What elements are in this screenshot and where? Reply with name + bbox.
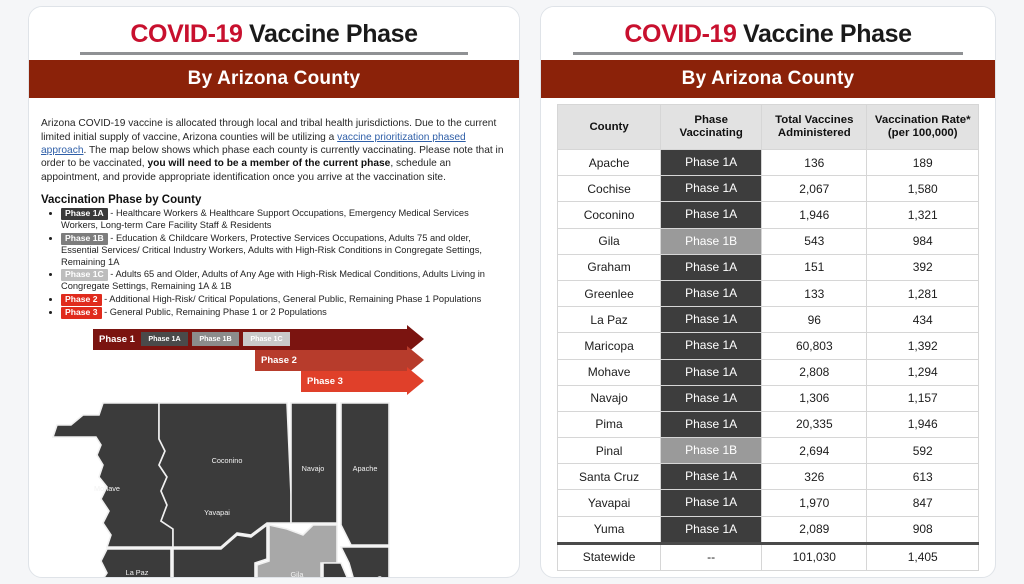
phase-description: - Healthcare Workers & Healthcare Suppor…	[61, 208, 469, 230]
table-head: CountyPhaseVaccinatingTotal VaccinesAdmi…	[558, 105, 979, 150]
phase-chip: Phase 1B	[61, 233, 108, 245]
cell-vaccination-rate: 592	[867, 438, 979, 464]
phase-description: - Adults 65 and Older, Adults of Any Age…	[61, 269, 485, 291]
cell-total-vaccines: 543	[762, 228, 867, 254]
cell-phase: Phase 1A	[661, 385, 762, 411]
cell-vaccination-rate: 1,392	[867, 333, 979, 359]
cell-county: Yavapai	[558, 490, 661, 516]
map-label-apache: Apache	[353, 464, 378, 473]
table-row[interactable]: CochisePhase 1A2,0671,580	[558, 176, 979, 202]
cell-vaccination-rate: 1,405	[867, 543, 979, 570]
map-county-apache	[341, 403, 389, 545]
table-row[interactable]: MaricopaPhase 1A60,8031,392	[558, 333, 979, 359]
cell-county: Navajo	[558, 385, 661, 411]
intro-bold: you will need to be a member of the curr…	[147, 158, 390, 169]
arizona-county-map: Mohave Coconino Navajo Apache Yavapai La…	[41, 395, 511, 578]
arrow-subchip-1a: Phase 1A	[141, 332, 188, 346]
arrow-phase-1: Phase 1 Phase 1A Phase 1B Phase 1C	[93, 329, 407, 350]
cell-county: Coconino	[558, 202, 661, 228]
cell-vaccination-rate: 1,580	[867, 176, 979, 202]
phase-badge: Phase 1A	[661, 517, 761, 542]
table-header-cell[interactable]: County	[558, 105, 661, 150]
table-header-cell[interactable]: Total VaccinesAdministered	[762, 105, 867, 150]
cell-total-vaccines: 1,946	[762, 202, 867, 228]
phase-chip: Phase 1C	[61, 269, 108, 281]
phase-badge: Phase 1A	[661, 281, 761, 306]
cell-county: Pima	[558, 411, 661, 437]
map-county-mohave	[53, 403, 173, 547]
cell-vaccination-rate: 1,157	[867, 385, 979, 411]
phase-badge: Phase 1A	[661, 386, 761, 411]
right-subtitle-bar: By Arizona County	[541, 60, 995, 98]
cell-phase: --	[661, 543, 762, 570]
arrow-phase-3: Phase 3	[301, 371, 407, 392]
table-body: ApachePhase 1A136189CochisePhase 1A2,067…	[558, 150, 979, 571]
table-row[interactable]: La PazPhase 1A96434	[558, 307, 979, 333]
cell-county: Greenlee	[558, 280, 661, 306]
arizona-map-svg: Mohave Coconino Navajo Apache Yavapai La…	[41, 395, 511, 578]
table-header-line: Vaccination Rate*	[867, 114, 978, 127]
table-row[interactable]: CoconinoPhase 1A1,9461,321	[558, 202, 979, 228]
right-panel: COVID-19 Vaccine Phase By Arizona County…	[540, 6, 996, 578]
cell-county: Apache	[558, 150, 661, 176]
table-header-cell[interactable]: Vaccination Rate*(per 100,000)	[867, 105, 979, 150]
intro-paragraph: Arizona COVID-19 vaccine is allocated th…	[41, 117, 505, 184]
right-title-rest: Vaccine Phase	[737, 20, 912, 48]
phase-arrow-diagram: Phase 1 Phase 1A Phase 1B Phase 1C Phase…	[93, 329, 473, 389]
cell-county: Pinal	[558, 438, 661, 464]
left-subtitle-bar: By Arizona County	[29, 60, 519, 98]
left-body: Arizona COVID-19 vaccine is allocated th…	[29, 98, 519, 578]
table-row[interactable]: GilaPhase 1B543984	[558, 228, 979, 254]
cell-county: Graham	[558, 254, 661, 280]
cell-phase: Phase 1A	[661, 516, 762, 543]
table-header-cell[interactable]: PhaseVaccinating	[661, 105, 762, 150]
left-title-rule	[80, 52, 468, 55]
cell-phase: Phase 1B	[661, 438, 762, 464]
arrow-phase-3-tip-icon	[407, 367, 424, 395]
table-header-line: County	[558, 121, 660, 134]
cell-county: La Paz	[558, 307, 661, 333]
cell-total-vaccines: 1,306	[762, 385, 867, 411]
cell-county: Santa Cruz	[558, 464, 661, 490]
phase-badge: Phase 1A	[661, 360, 761, 385]
map-label-lapaz: La Paz	[126, 568, 149, 577]
cell-vaccination-rate: 613	[867, 464, 979, 490]
map-label-yavapai: Yavapai	[204, 508, 230, 517]
cell-phase: Phase 1A	[661, 150, 762, 176]
cell-total-vaccines: 20,335	[762, 411, 867, 437]
table-header-line: Administered	[762, 127, 866, 140]
table-row[interactable]: NavajoPhase 1A1,3061,157	[558, 385, 979, 411]
cell-phase: Phase 1A	[661, 280, 762, 306]
cell-phase: Phase 1A	[661, 176, 762, 202]
cell-phase: Phase 1B	[661, 228, 762, 254]
phase-chip: Phase 3	[61, 307, 102, 319]
right-masthead: COVID-19 Vaccine Phase By Arizona County	[541, 7, 995, 98]
phase-list-item: Phase 1B - Education & Childcare Workers…	[61, 233, 505, 268]
map-label-navajo: Navajo	[302, 464, 325, 473]
cell-phase: Phase 1A	[661, 490, 762, 516]
table-header-line: Total Vaccines	[762, 114, 866, 127]
left-masthead: COVID-19 Vaccine Phase By Arizona County	[29, 7, 519, 98]
table-row[interactable]: PimaPhase 1A20,3351,946	[558, 411, 979, 437]
phase-badge: Phase 1A	[661, 176, 761, 201]
left-title-covid: COVID-19	[130, 20, 242, 48]
left-title-rest: Vaccine Phase	[243, 20, 418, 48]
cell-total-vaccines: 101,030	[762, 543, 867, 570]
cell-phase: Phase 1A	[661, 333, 762, 359]
cell-phase: Phase 1A	[661, 202, 762, 228]
cell-vaccination-rate: 908	[867, 516, 979, 543]
phase-description: - General Public, Remaining Phase 1 or 2…	[102, 307, 327, 317]
cell-total-vaccines: 133	[762, 280, 867, 306]
phase-badge: Phase 1A	[661, 150, 761, 175]
table-row[interactable]: YumaPhase 1A2,089908	[558, 516, 979, 543]
cell-vaccination-rate: 1,281	[867, 280, 979, 306]
cell-total-vaccines: 96	[762, 307, 867, 333]
map-county-navajo	[291, 403, 337, 523]
phase-list-item: Phase 1A - Healthcare Workers & Healthca…	[61, 208, 505, 232]
arrow-subchip-1b: Phase 1B	[192, 332, 239, 346]
phase-chip: Phase 2	[61, 294, 102, 306]
table-row[interactable]: ApachePhase 1A136189	[558, 150, 979, 176]
right-title-rule	[573, 52, 963, 55]
section-heading: Vaccination Phase by County	[41, 194, 505, 206]
table-row[interactable]: GreenleePhase 1A1331,281	[558, 280, 979, 306]
table-row[interactable]: Statewide--101,0301,405	[558, 543, 979, 570]
phase-list-item: Phase 2 - Additional High-Risk/ Critical…	[61, 294, 505, 306]
cell-phase: Phase 1A	[661, 359, 762, 385]
phase-chip: Phase 1A	[61, 208, 108, 220]
cell-total-vaccines: 1,970	[762, 490, 867, 516]
cell-vaccination-rate: 434	[867, 307, 979, 333]
phase-badge: --	[661, 545, 761, 570]
arrow-subchip-1c: Phase 1C	[243, 332, 290, 346]
phase-list-item: Phase 1C - Adults 65 and Older, Adults o…	[61, 269, 505, 293]
table-row[interactable]: MohavePhase 1A2,8081,294	[558, 359, 979, 385]
left-page-title: COVID-19 Vaccine Phase	[29, 7, 519, 49]
cell-total-vaccines: 2,694	[762, 438, 867, 464]
table-row[interactable]: YavapaiPhase 1A1,970847	[558, 490, 979, 516]
cell-vaccination-rate: 1,946	[867, 411, 979, 437]
table-header-line: (per 100,000)	[867, 127, 978, 140]
map-county-greenlee	[341, 547, 389, 578]
cell-total-vaccines: 2,089	[762, 516, 867, 543]
cell-county: Maricopa	[558, 333, 661, 359]
arrow-phase-2: Phase 2	[255, 350, 407, 371]
vaccination-table: CountyPhaseVaccinatingTotal VaccinesAdmi…	[557, 104, 979, 571]
map-label-coconino: Coconino	[212, 456, 243, 465]
cell-total-vaccines: 326	[762, 464, 867, 490]
cell-phase: Phase 1A	[661, 411, 762, 437]
table-row[interactable]: Santa CruzPhase 1A326613	[558, 464, 979, 490]
cell-phase: Phase 1A	[661, 307, 762, 333]
table-header-line: Phase	[661, 114, 761, 127]
cell-county: Statewide	[558, 543, 661, 570]
arrow-phase-1-label: Phase 1	[93, 329, 135, 350]
cell-county: Yuma	[558, 516, 661, 543]
table-row[interactable]: GrahamPhase 1A151392	[558, 254, 979, 280]
table-header-row: CountyPhaseVaccinatingTotal VaccinesAdmi…	[558, 105, 979, 150]
phase-badge: Phase 1A	[661, 307, 761, 332]
left-panel: COVID-19 Vaccine Phase By Arizona County…	[28, 6, 520, 578]
cell-phase: Phase 1A	[661, 464, 762, 490]
cell-vaccination-rate: 984	[867, 228, 979, 254]
cell-vaccination-rate: 189	[867, 150, 979, 176]
phase-list-item: Phase 3 - General Public, Remaining Phas…	[61, 307, 505, 319]
cell-vaccination-rate: 1,321	[867, 202, 979, 228]
page-root: COVID-19 Vaccine Phase By Arizona County…	[0, 0, 1024, 584]
cell-vaccination-rate: 392	[867, 254, 979, 280]
phase-description: - Education & Childcare Workers, Protect…	[61, 233, 482, 267]
cell-total-vaccines: 136	[762, 150, 867, 176]
phase-badge: Phase 1B	[661, 229, 761, 254]
vaccination-table-wrap: CountyPhaseVaccinatingTotal VaccinesAdmi…	[541, 98, 995, 571]
right-page-title: COVID-19 Vaccine Phase	[541, 7, 995, 49]
phase-badge: Phase 1A	[661, 202, 761, 227]
cell-total-vaccines: 2,808	[762, 359, 867, 385]
cell-total-vaccines: 151	[762, 254, 867, 280]
arrow-phase-2-label: Phase 2	[255, 350, 297, 371]
cell-county: Mohave	[558, 359, 661, 385]
phase-badge: Phase 1A	[661, 412, 761, 437]
cell-total-vaccines: 2,067	[762, 176, 867, 202]
phase-badge: Phase 1A	[661, 490, 761, 515]
table-row[interactable]: PinalPhase 1B2,694592	[558, 438, 979, 464]
cell-phase: Phase 1A	[661, 254, 762, 280]
phase-badge: Phase 1A	[661, 464, 761, 489]
map-label-gila: Gila	[291, 570, 305, 578]
arrow-phase-3-label: Phase 3	[301, 371, 343, 392]
cell-vaccination-rate: 847	[867, 490, 979, 516]
phase-badge: Phase 1B	[661, 438, 761, 463]
right-title-covid: COVID-19	[624, 20, 736, 48]
phase-badge: Phase 1A	[661, 333, 761, 358]
cell-total-vaccines: 60,803	[762, 333, 867, 359]
cell-county: Gila	[558, 228, 661, 254]
table-header-line: Vaccinating	[661, 127, 761, 140]
phase-definition-list: Phase 1A - Healthcare Workers & Healthca…	[41, 208, 505, 318]
phase-description: - Additional High-Risk/ Critical Populat…	[102, 294, 482, 304]
cell-vaccination-rate: 1,294	[867, 359, 979, 385]
map-label-mohave: Mohave	[94, 484, 120, 493]
phase-badge: Phase 1A	[661, 255, 761, 280]
cell-county: Cochise	[558, 176, 661, 202]
